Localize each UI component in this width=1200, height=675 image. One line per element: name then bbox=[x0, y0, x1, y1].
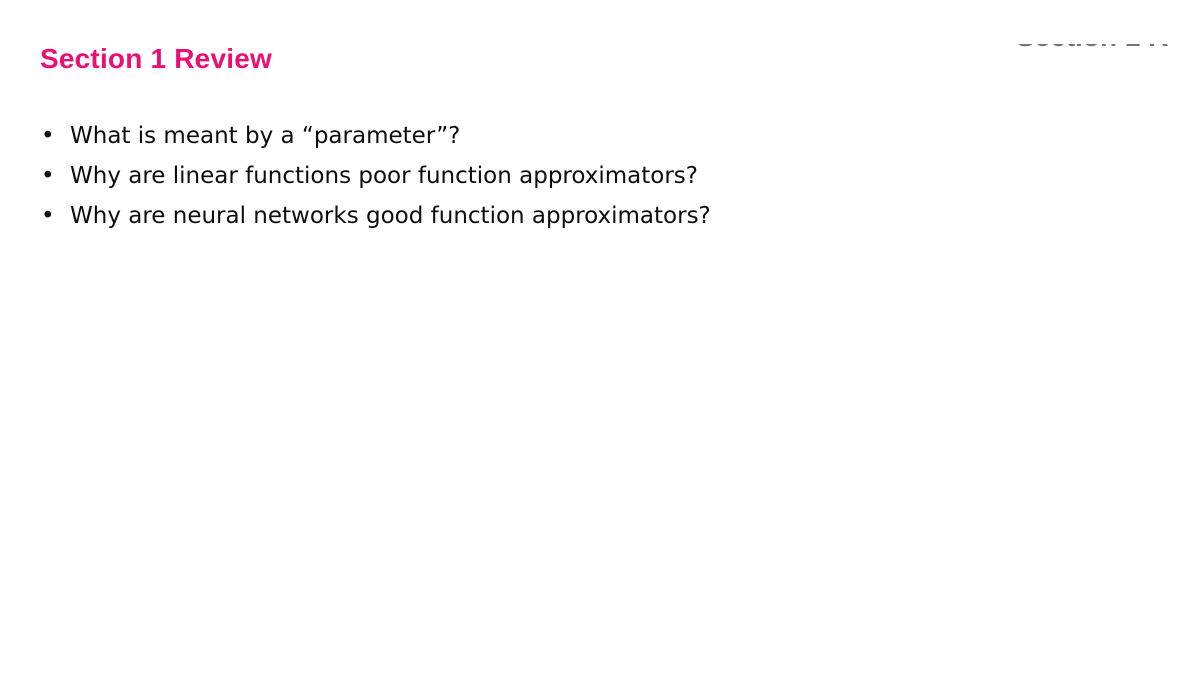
list-item: • Why are neural networks good function … bbox=[36, 198, 1136, 234]
slide-canvas: Section 1 Review Section 1 Review • What… bbox=[0, 0, 1200, 675]
bullet-list: • What is meant by a “parameter”? • Why … bbox=[36, 118, 1136, 238]
list-item-label: Why are neural networks good function ap… bbox=[70, 203, 711, 229]
list-item: • What is meant by a “parameter”? bbox=[36, 118, 1136, 154]
page-title: Section 1 Review bbox=[40, 42, 272, 76]
clipped-header-artifact-text: Section 1 Review bbox=[1016, 44, 1168, 54]
bullet-point-icon: • bbox=[41, 158, 53, 194]
list-item-label: What is meant by a “parameter”? bbox=[70, 123, 460, 149]
bullet-point-icon: • bbox=[41, 198, 53, 234]
bullet-point-icon: • bbox=[41, 118, 53, 154]
list-item-label: Why are linear functions poor function a… bbox=[70, 163, 698, 189]
clipped-header-artifact: Section 1 Review bbox=[1016, 44, 1168, 70]
list-item: • Why are linear functions poor function… bbox=[36, 158, 1136, 194]
